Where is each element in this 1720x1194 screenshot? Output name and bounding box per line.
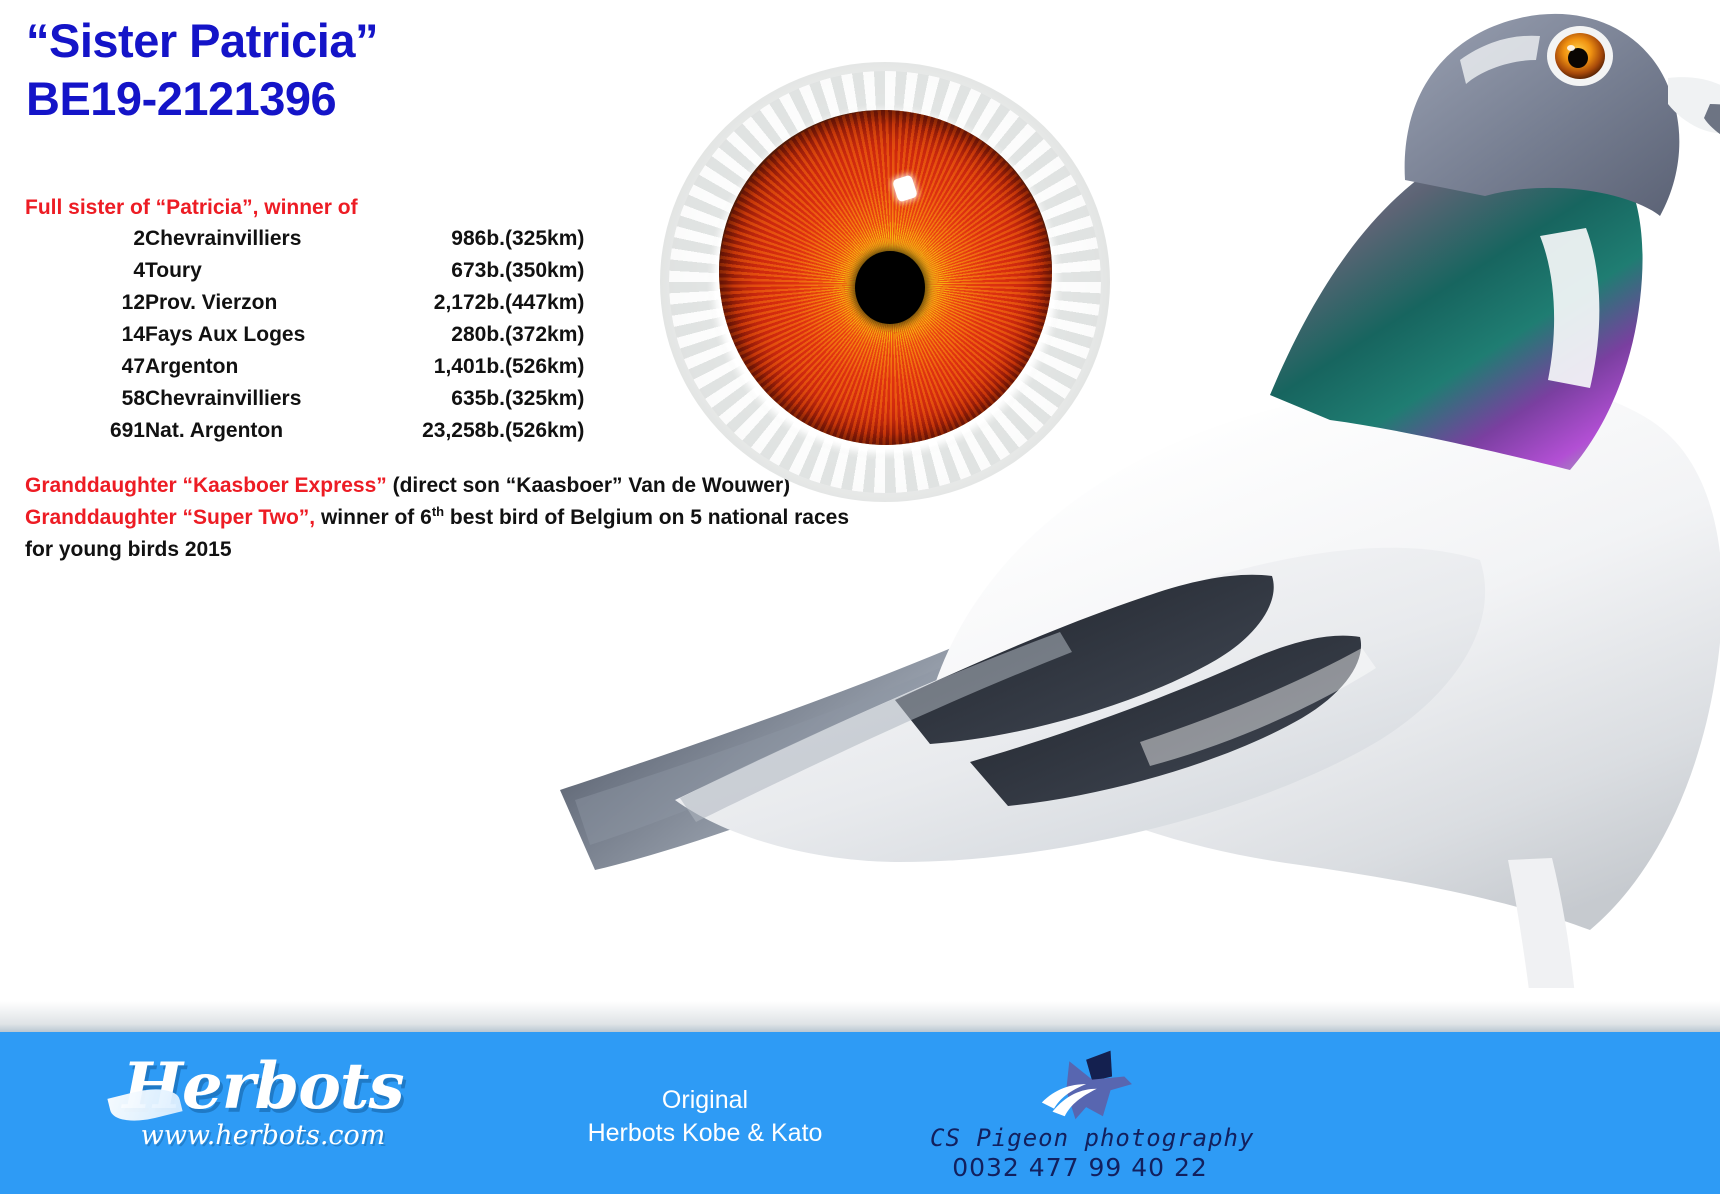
pedigree-subheading: Full sister of “Patricia”, winner of: [25, 196, 358, 220]
result-birds: 2,172b.: [360, 292, 505, 324]
result-race: Argenton: [145, 356, 360, 388]
note2-ordinal-suffix: th: [432, 504, 444, 519]
note2-rest-a: winner of 6: [315, 506, 432, 529]
result-birds: 986b.: [360, 228, 505, 260]
pedigree-card: “Sister Patricia” BE19-2121396 Full sist…: [0, 0, 1720, 1194]
result-birds: 673b.: [360, 260, 505, 292]
result-position: 4: [25, 260, 145, 292]
note3-text: for young birds 2015: [25, 538, 232, 561]
result-position: 47: [25, 356, 145, 388]
pigeon-name: “Sister Patricia”: [26, 14, 378, 67]
pigeon-photo: [500, 0, 1720, 1090]
result-position: 58: [25, 388, 145, 420]
result-birds: 635b.: [360, 388, 505, 420]
result-race: Nat. Argenton: [145, 420, 360, 452]
footer-fade-divider: [0, 988, 1720, 1032]
photographer-phone: 0032 477 99 40 22: [930, 1153, 1230, 1182]
result-race: Toury: [145, 260, 360, 292]
result-birds: 23,258b.: [360, 420, 505, 452]
pigeon-ring-number: BE19-2121396: [26, 70, 378, 128]
page-title: “Sister Patricia” BE19-2121396: [26, 12, 378, 128]
cs-dove-logo: [930, 1050, 1230, 1124]
origin-line-2: Herbots Kobe & Kato: [560, 1117, 850, 1150]
photographer-credit: CS Pigeon photography 0032 477 99 40 22: [930, 1050, 1230, 1182]
result-birds: 280b.: [360, 324, 505, 356]
result-position: 12: [25, 292, 145, 324]
herbots-logo[interactable]: Herbots www.herbots.com: [118, 1056, 408, 1151]
result-race: Fays Aux Loges: [145, 324, 360, 356]
dove-head-icon: [1086, 1051, 1112, 1082]
origin-credit: Original Herbots Kobe & Kato: [560, 1084, 850, 1150]
eye-glint-small: [1567, 45, 1575, 51]
origin-line-1: Original: [560, 1084, 850, 1117]
result-position: 2: [25, 228, 145, 260]
result-birds: 1,401b.: [360, 356, 505, 388]
note1-highlight: Granddaughter “Kaasboer Express”: [25, 474, 387, 497]
footer-bar: Herbots www.herbots.com Original Herbots…: [0, 1032, 1720, 1194]
result-position: 14: [25, 324, 145, 356]
result-position: 691: [25, 420, 145, 452]
pigeon-head: [1405, 14, 1680, 216]
herbots-website-url[interactable]: www.herbots.com: [118, 1120, 408, 1151]
result-race: Prov. Vierzon: [145, 292, 360, 324]
result-race: Chevrainvilliers: [145, 388, 360, 420]
result-race: Chevrainvilliers: [145, 228, 360, 260]
note2-highlight: Granddaughter “Super Two”,: [25, 506, 315, 529]
